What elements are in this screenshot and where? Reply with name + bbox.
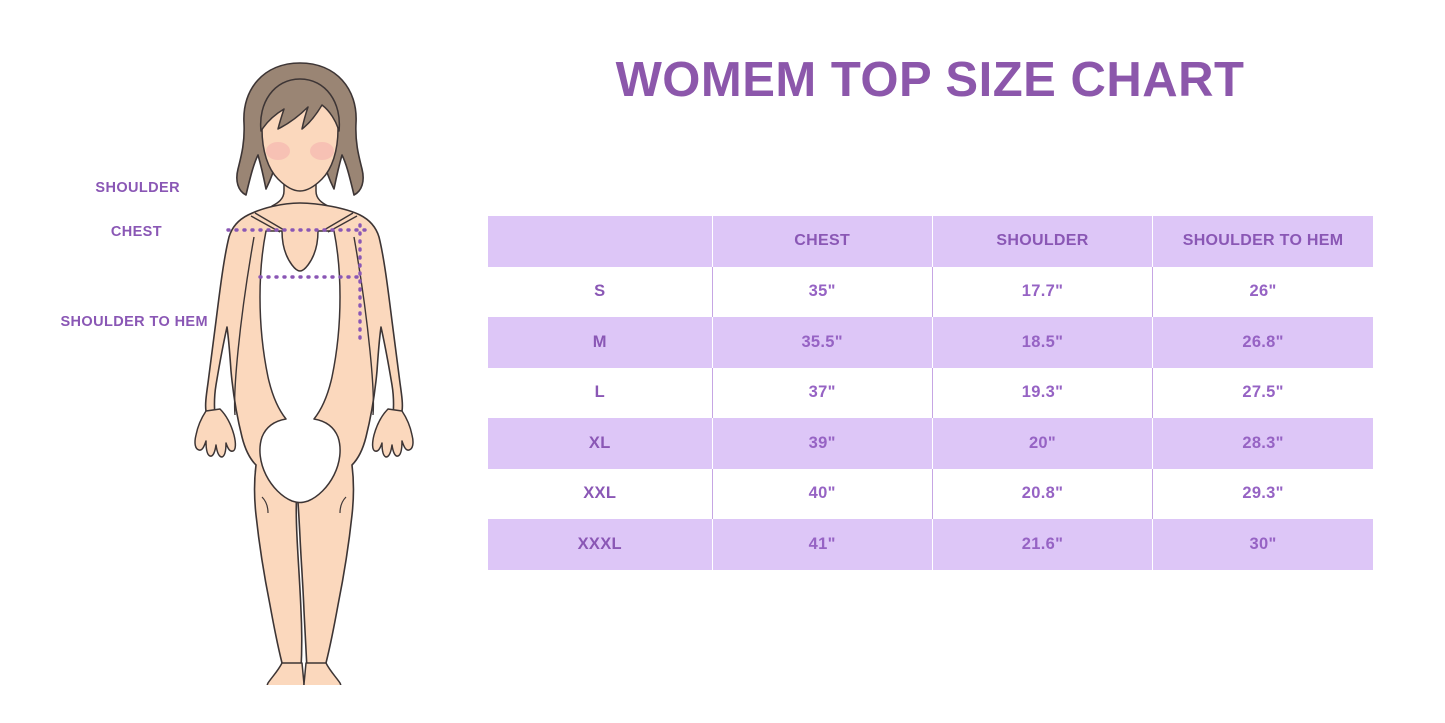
body-figure-illustration xyxy=(150,45,450,685)
size-chart-page: WOMEM TOP SIZE CHART SHOULDER CHEST SHOU… xyxy=(0,0,1445,723)
cell-shoulder-to-hem: 30" xyxy=(1153,519,1373,570)
cell-size: S xyxy=(488,267,712,318)
cell-chest: 35.5" xyxy=(712,317,932,368)
cell-shoulder: 19.3" xyxy=(932,368,1152,419)
cell-shoulder: 17.7" xyxy=(932,267,1152,318)
table-row: L 37" 19.3" 27.5" xyxy=(488,368,1373,419)
garment-bodysuit-shape xyxy=(260,231,340,503)
cell-size: M xyxy=(488,317,712,368)
cell-size: XXL xyxy=(488,469,712,520)
cheek-blush-left xyxy=(266,142,290,160)
column-header-size xyxy=(488,216,712,267)
column-header-chest: CHEST xyxy=(712,216,932,267)
size-chart-table: CHEST SHOULDER SHOULDER TO HEM S 35" 17.… xyxy=(488,216,1373,570)
table-header-row: CHEST SHOULDER SHOULDER TO HEM xyxy=(488,216,1373,267)
hand-right-shape xyxy=(373,409,413,457)
measurement-label-chest: CHEST xyxy=(0,224,162,240)
cell-shoulder: 18.5" xyxy=(932,317,1152,368)
cell-chest: 40" xyxy=(712,469,932,520)
table-row: XXL 40" 20.8" 29.3" xyxy=(488,469,1373,520)
page-title: WOMEM TOP SIZE CHART xyxy=(460,52,1400,108)
figure-group xyxy=(195,63,413,685)
cell-size: XXXL xyxy=(488,519,712,570)
cell-shoulder-to-hem: 28.3" xyxy=(1153,418,1373,469)
foot-right-shape xyxy=(304,663,341,685)
table-row: XXXL 41" 21.6" 30" xyxy=(488,519,1373,570)
cell-chest: 39" xyxy=(712,418,932,469)
cell-shoulder-to-hem: 26" xyxy=(1153,267,1373,318)
column-header-shoulder: SHOULDER xyxy=(932,216,1152,267)
cell-shoulder-to-hem: 26.8" xyxy=(1153,317,1373,368)
cell-shoulder: 20.8" xyxy=(932,469,1152,520)
table-row: XL 39" 20" 28.3" xyxy=(488,418,1373,469)
cheek-blush-right xyxy=(310,142,334,160)
column-header-shoulder-to-hem: SHOULDER TO HEM xyxy=(1153,216,1373,267)
cell-size: L xyxy=(488,368,712,419)
hand-left-shape xyxy=(195,409,235,457)
cell-chest: 35" xyxy=(712,267,932,318)
cell-chest: 37" xyxy=(712,368,932,419)
cell-shoulder: 20" xyxy=(932,418,1152,469)
foot-left-shape xyxy=(267,663,304,685)
cell-shoulder-to-hem: 29.3" xyxy=(1153,469,1373,520)
table-row: M 35.5" 18.5" 26.8" xyxy=(488,317,1373,368)
cell-chest: 41" xyxy=(712,519,932,570)
table-row: S 35" 17.7" 26" xyxy=(488,267,1373,318)
cell-shoulder: 21.6" xyxy=(932,519,1152,570)
cell-size: XL xyxy=(488,418,712,469)
cell-shoulder-to-hem: 27.5" xyxy=(1153,368,1373,419)
